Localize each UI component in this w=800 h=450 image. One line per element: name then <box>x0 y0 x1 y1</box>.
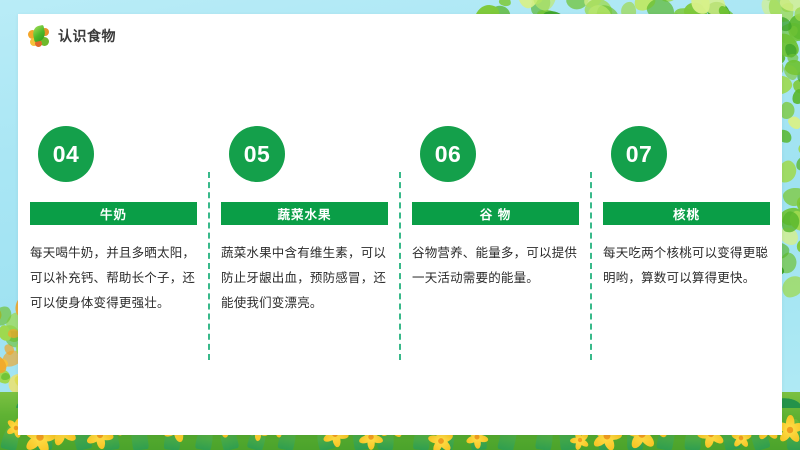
slide: 认识食物 04 牛奶 每天喝牛奶，并且多晒太阳，可以补充钙、帮助长个子，还可以使… <box>0 0 800 450</box>
step-number-badge: 04 <box>38 126 94 182</box>
step-number-badge: 06 <box>420 126 476 182</box>
column-walnut: 07 核桃 每天吃两个核桃可以变得更聪明哟，算数可以算得更快。 <box>591 126 782 376</box>
column-title: 核桃 <box>673 204 700 223</box>
nutrition-columns: 04 牛奶 每天喝牛奶，并且多晒太阳，可以补充钙、帮助长个子，还可以使身体变得更… <box>18 126 782 376</box>
column-title: 牛奶 <box>100 204 127 223</box>
column-divider <box>590 172 592 360</box>
column-body-text: 蔬菜水果中含有维生素，可以防止牙龈出血，预防感冒，还能使我们变漂亮。 <box>221 241 388 316</box>
column-body-text: 谷物营养、能量多，可以提供一天活动需要的能量。 <box>412 241 579 291</box>
column-divider <box>399 172 401 360</box>
column-vegetables-fruits: 05 蔬菜水果 蔬菜水果中含有维生素，可以防止牙龈出血，预防感冒，还能使我们变漂… <box>209 126 400 376</box>
column-grains: 06 谷 物 谷物营养、能量多，可以提供一天活动需要的能量。 <box>400 126 591 376</box>
page-title: 认识食物 <box>58 26 116 46</box>
column-title-bar: 谷 物 <box>412 202 579 225</box>
step-number-badge: 07 <box>611 126 667 182</box>
column-body-text: 每天喝牛奶，并且多晒太阳，可以补充钙、帮助长个子，还可以使身体变得更强壮。 <box>30 241 197 316</box>
column-title-bar: 牛奶 <box>30 202 197 225</box>
column-divider <box>208 172 210 360</box>
column-title: 蔬菜水果 <box>277 204 331 223</box>
slide-header: 认识食物 <box>18 14 116 58</box>
content-card: 认识食物 04 牛奶 每天喝牛奶，并且多晒太阳，可以补充钙、帮助长个子，还可以使… <box>18 14 782 435</box>
column-body-text: 每天吃两个核桃可以变得更聪明哟，算数可以算得更快。 <box>603 241 770 291</box>
column-title: 谷 物 <box>480 204 511 223</box>
column-title-bar: 核桃 <box>603 202 770 225</box>
column-milk: 04 牛奶 每天喝牛奶，并且多晒太阳，可以补充钙、帮助长个子，还可以使身体变得更… <box>18 126 209 376</box>
column-title-bar: 蔬菜水果 <box>221 202 388 225</box>
fruit-cluster-icon <box>28 25 50 47</box>
step-number-badge: 05 <box>229 126 285 182</box>
